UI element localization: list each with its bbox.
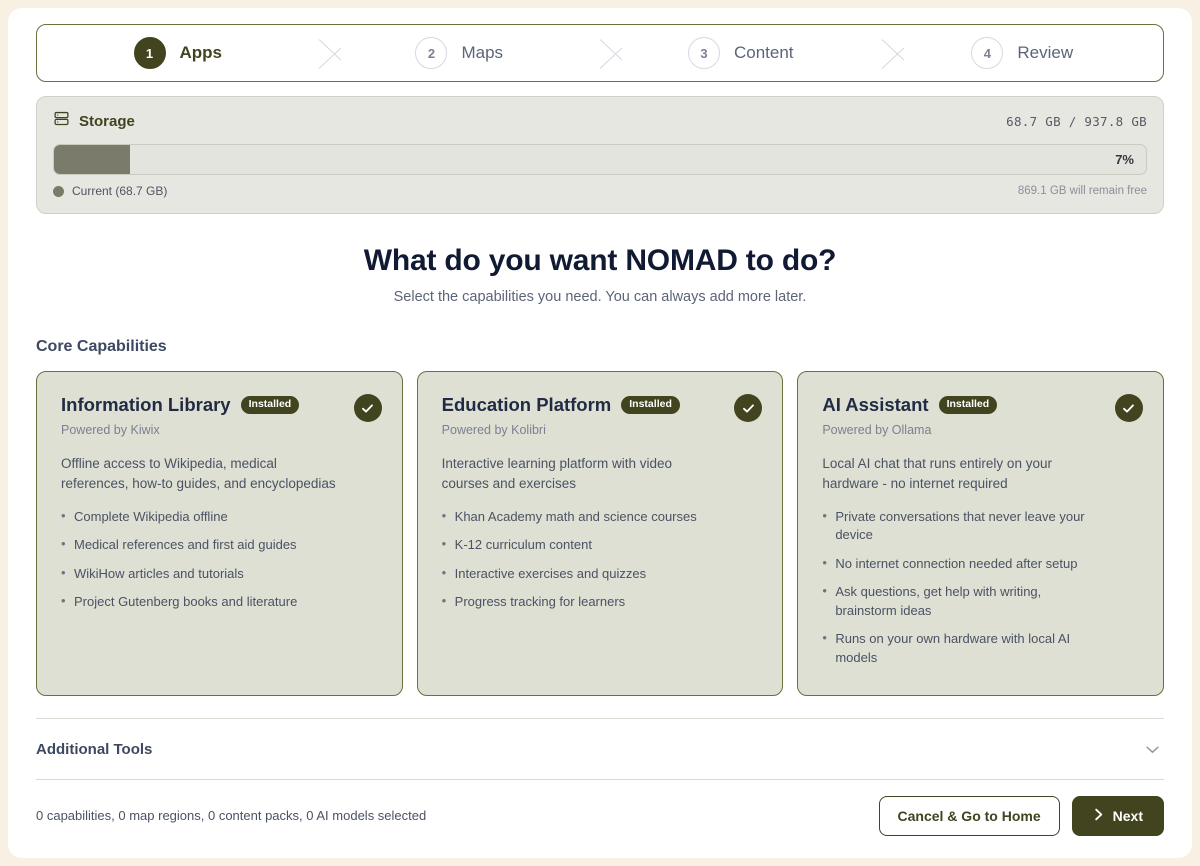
core-capabilities-heading: Core Capabilities [36, 338, 1164, 356]
list-item: Khan Academy math and science courses [442, 508, 724, 526]
step-review-label: Review [1017, 43, 1073, 63]
card-description: Interactive learning platform with video… [442, 454, 722, 494]
step-maps-label: Maps [461, 43, 503, 63]
list-item: Project Gutenberg books and literature [61, 593, 343, 611]
storage-label: Storage [79, 113, 135, 130]
card-description: Local AI chat that runs entirely on your… [822, 454, 1102, 494]
chevron-right-icon [1093, 808, 1104, 824]
storage-header: Storage 68.7 GB / 937.8 GB [53, 109, 1147, 133]
list-item: No internet connection needed after setu… [822, 555, 1104, 573]
list-item: WikiHow articles and tutorials [61, 565, 343, 583]
storage-progress-bar: 7% [53, 144, 1147, 175]
storage-progress-fill [54, 145, 130, 174]
step-content[interactable]: 3 Content [600, 25, 882, 81]
step-review-number: 4 [971, 37, 1003, 69]
step-maps-number: 2 [415, 37, 447, 69]
capability-card-education-platform[interactable]: Education Platform Installed Powered by … [417, 371, 784, 696]
card-subtitle: Powered by Kolibri [442, 423, 761, 437]
card-title: Information Library [61, 394, 231, 416]
additional-tools-accordion[interactable]: Additional Tools [36, 719, 1164, 779]
chevron-down-icon[interactable] [1145, 742, 1164, 757]
card-feature-list: Khan Academy math and science courses K-… [442, 508, 761, 612]
check-circle-icon[interactable] [354, 394, 382, 422]
list-item: Interactive exercises and quizzes [442, 565, 724, 583]
card-title: AI Assistant [822, 394, 928, 416]
card-header: Education Platform Installed [442, 394, 761, 416]
legend-swatch-icon [53, 186, 64, 197]
list-item: Private conversations that never leave y… [822, 508, 1104, 545]
step-apps[interactable]: 1 Apps [37, 25, 319, 81]
storage-free-note: 869.1 GB will remain free [1018, 185, 1147, 197]
server-stack-icon [53, 110, 70, 132]
storage-percent-label: 7% [1115, 145, 1134, 174]
status-badge: Installed [621, 396, 680, 414]
list-item: Runs on your own hardware with local AI … [822, 630, 1104, 667]
list-item: Progress tracking for learners [442, 593, 724, 611]
storage-legend: Current (68.7 GB) [53, 184, 167, 198]
storage-panel: Storage 68.7 GB / 937.8 GB 7% Current (6… [36, 96, 1164, 214]
storage-footer: Current (68.7 GB) 869.1 GB will remain f… [53, 184, 1147, 198]
card-title: Education Platform [442, 394, 612, 416]
step-content-number: 3 [688, 37, 720, 69]
card-feature-list: Complete Wikipedia offline Medical refer… [61, 508, 380, 612]
wizard-stepper: 1 Apps 2 Maps 3 Content 4 Review [36, 24, 1164, 82]
selection-summary: 0 capabilities, 0 map regions, 0 content… [36, 808, 426, 823]
page-subtitle: Select the capabilities you need. You ca… [36, 289, 1164, 305]
capability-card-grid: Information Library Installed Powered by… [36, 371, 1164, 696]
wizard-footer: 0 capabilities, 0 map regions, 0 content… [36, 779, 1164, 851]
card-header: AI Assistant Installed [822, 394, 1141, 416]
step-apps-number: 1 [134, 37, 166, 69]
next-button-label: Next [1113, 808, 1143, 824]
check-circle-icon[interactable] [734, 394, 762, 422]
card-subtitle: Powered by Kiwix [61, 423, 380, 437]
list-item: Medical references and first aid guides [61, 536, 343, 554]
step-apps-label: Apps [180, 43, 223, 63]
card-feature-list: Private conversations that never leave y… [822, 508, 1141, 667]
setup-wizard-window: 1 Apps 2 Maps 3 Content 4 Review [8, 8, 1192, 858]
page-headline: What do you want NOMAD to do? Select the… [36, 244, 1164, 305]
card-header: Information Library Installed [61, 394, 380, 416]
card-description: Offline access to Wikipedia, medical ref… [61, 454, 341, 494]
page-title: What do you want NOMAD to do? [36, 244, 1164, 278]
step-review[interactable]: 4 Review [882, 25, 1164, 81]
list-item: Ask questions, get help with writing, br… [822, 583, 1104, 620]
capability-card-information-library[interactable]: Information Library Installed Powered by… [36, 371, 403, 696]
additional-tools-label: Additional Tools [36, 741, 152, 758]
capability-card-ai-assistant[interactable]: AI Assistant Installed Powered by Ollama… [797, 371, 1164, 696]
storage-title-group: Storage [53, 110, 135, 132]
list-item: K-12 curriculum content [442, 536, 724, 554]
storage-capacity: 68.7 GB / 937.8 GB [1006, 114, 1147, 129]
list-item: Complete Wikipedia offline [61, 508, 343, 526]
status-badge: Installed [939, 396, 998, 414]
cancel-button[interactable]: Cancel & Go to Home [879, 796, 1060, 836]
step-maps[interactable]: 2 Maps [319, 25, 601, 81]
status-badge: Installed [241, 396, 300, 414]
card-subtitle: Powered by Ollama [822, 423, 1141, 437]
next-button[interactable]: Next [1072, 796, 1164, 836]
check-circle-icon[interactable] [1115, 394, 1143, 422]
storage-legend-label: Current (68.7 GB) [72, 184, 167, 198]
step-content-label: Content [734, 43, 794, 63]
footer-actions: Cancel & Go to Home Next [879, 796, 1165, 836]
